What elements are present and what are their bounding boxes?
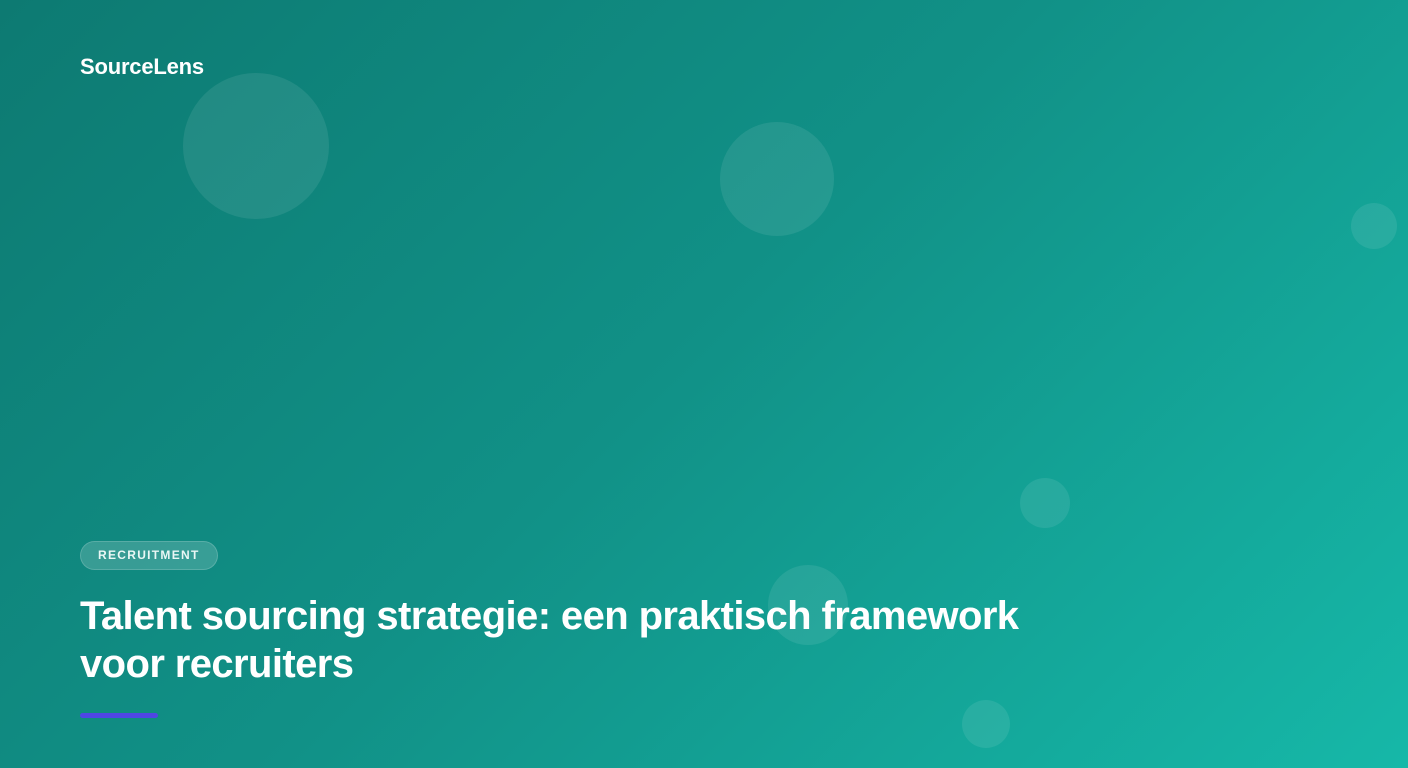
category-badge[interactable]: RECRUITMENT	[80, 541, 218, 570]
decorative-circle	[720, 122, 834, 236]
brand-logo[interactable]: SourceLens	[80, 54, 204, 80]
decorative-circle	[183, 73, 329, 219]
decorative-circle	[1020, 478, 1070, 528]
hero-content: RECRUITMENT Talent sourcing strategie: e…	[80, 541, 1130, 718]
decorative-circle	[1351, 203, 1397, 249]
hero-banner: SourceLens RECRUITMENT Talent sourcing s…	[0, 0, 1408, 768]
accent-bar	[80, 713, 158, 718]
page-title: Talent sourcing strategie: een praktisch…	[80, 592, 1040, 688]
